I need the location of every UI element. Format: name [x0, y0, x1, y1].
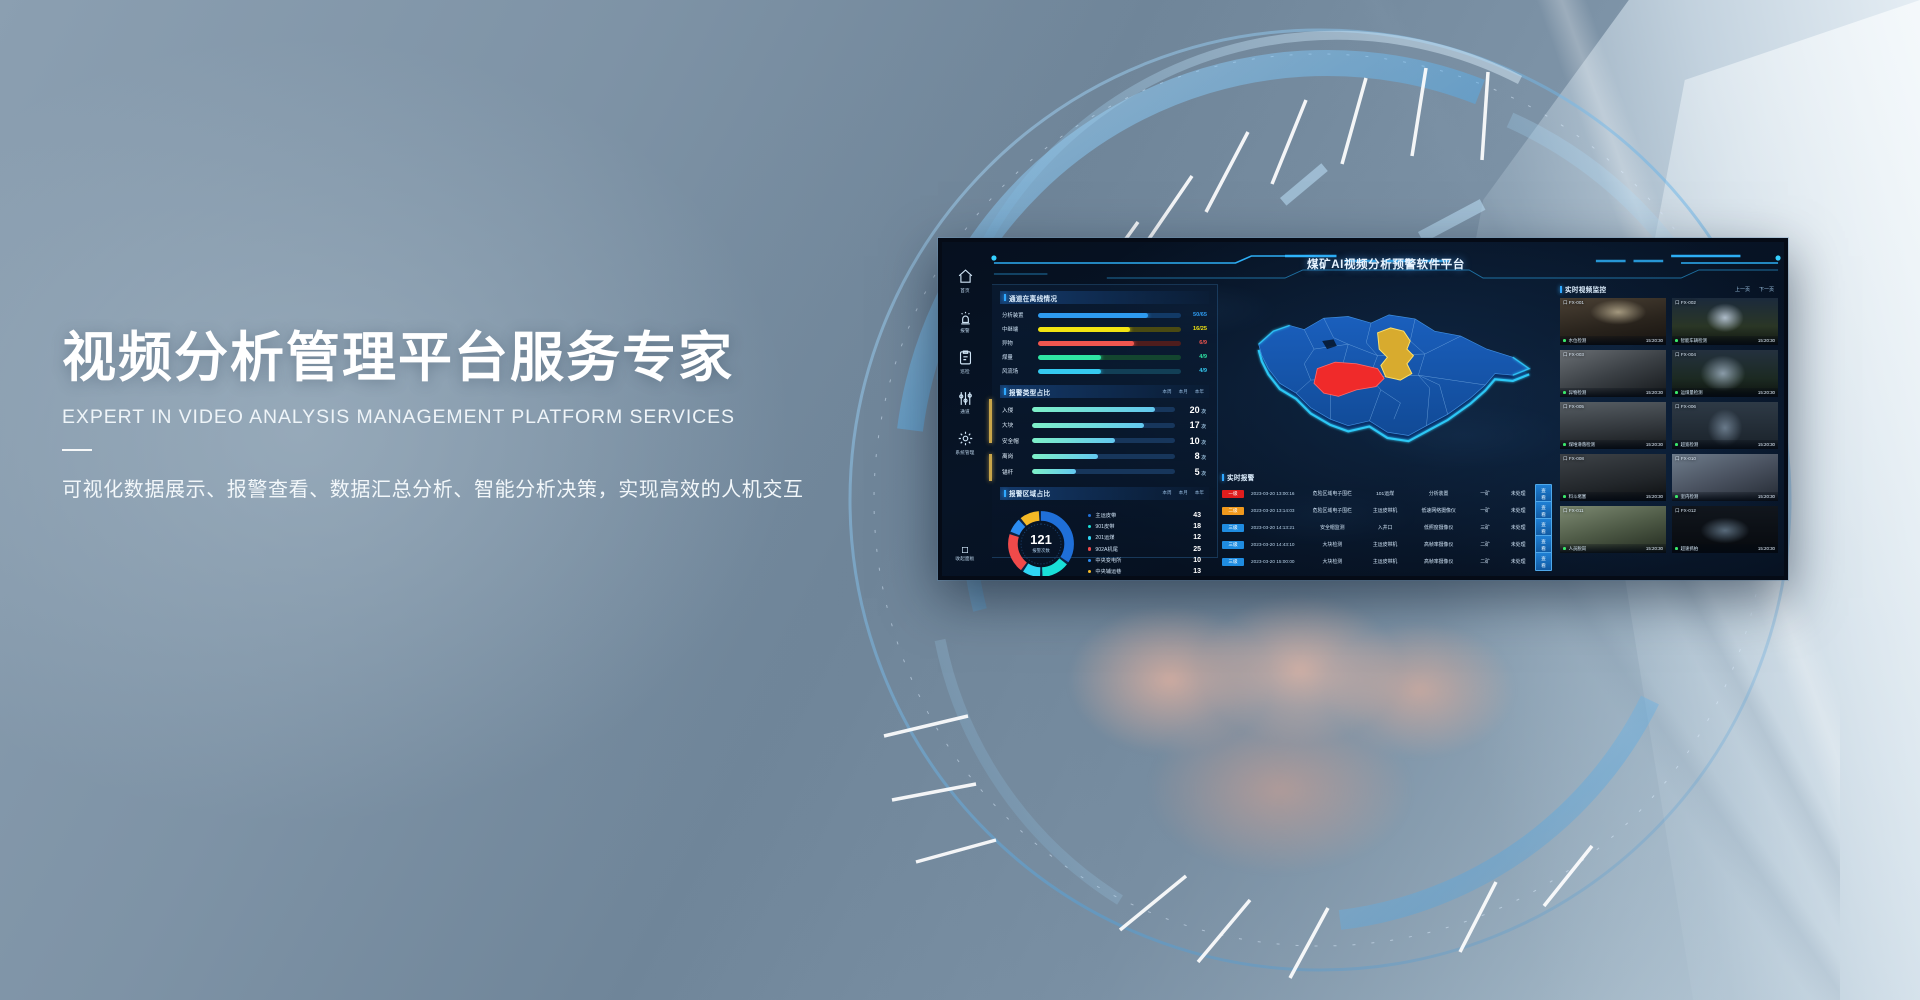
- hero-subtitle: EXPERT IN VIDEO ANALYSIS MANAGEMENT PLAT…: [62, 406, 822, 429]
- alarm-type-row: 大块 17次: [1000, 418, 1209, 434]
- video-footer: 煤堆滑落检测 15:20:30: [1560, 440, 1666, 449]
- camera-label: 智能车辆检测: [1678, 338, 1758, 344]
- alarm-type-value: 20次: [1175, 405, 1209, 415]
- panel-accent-bar: [1004, 490, 1006, 497]
- alarm-type-panel: 报警类型占比 本周本月本年 入侵 20次 大块 17次 安全帽 10次 离岗 8: [1000, 385, 1209, 480]
- alarm-area-tab-0[interactable]: 本周: [1162, 490, 1171, 496]
- alarm-type-track: [1032, 407, 1175, 412]
- table-row: 三级 2023-03-20 14:13:21 安全帽监测 入井口 低照度摄像仪 …: [1222, 519, 1556, 536]
- camera-id: 口 FX-010: [1675, 456, 1696, 462]
- panel-header: 实时报警: [1222, 472, 1556, 482]
- video-footer: 超宽检测 15:20:30: [1672, 440, 1778, 449]
- legend-item: 中央变电所 10: [1088, 555, 1209, 566]
- video-tile[interactable]: 口 FX-011 人员脱岗 15:20:30: [1560, 506, 1666, 553]
- donut-total-value: 121: [1030, 533, 1052, 546]
- camera-timestamp: 15:20:30: [1758, 338, 1775, 343]
- camera-id: 口 FX-012: [1675, 508, 1696, 514]
- video-footer: 水位检测 15:20:30: [1560, 336, 1666, 345]
- alarm-type: 危险区域电子围栏: [1303, 507, 1362, 514]
- table-row: 三级 2023-03-20 15:00:00 大块检测 主运皮带机 高帧率摄像仪…: [1222, 553, 1556, 570]
- alarm-time: 2023-03-20 13:14:03: [1251, 508, 1303, 513]
- camera-timestamp: 15:20:30: [1758, 442, 1775, 447]
- alarm-light-icon: [957, 309, 974, 326]
- alarm-area-tab-1[interactable]: 本月: [1179, 490, 1188, 496]
- alarm-type-row: 入侵 20次: [1000, 402, 1209, 418]
- camera-id: 口 FX-011: [1563, 508, 1584, 514]
- alarm-area-chart: 121 报警次数 主运皮带 43 901皮带 18 201运煤 12 902A机…: [1000, 504, 1209, 577]
- video-grid: 口 FX-001 水位检测 15:20:30 口 FX-002 智能车辆检测 1…: [1560, 298, 1778, 553]
- channel-label: 分析装置: [1002, 311, 1038, 319]
- legend-item: 901皮带 18: [1088, 521, 1209, 532]
- alarm-type-fill: [1032, 454, 1098, 459]
- realtime-alarm-panel: 实时报警 一级 2023-03-20 13:00:16 危险区域电子围栏 101…: [1222, 472, 1556, 560]
- alarm-type: 安全帽监测: [1303, 524, 1362, 531]
- alarm-mine: 二矿: [1469, 558, 1501, 565]
- hero-copy: 视频分析管理平台服务专家 EXPERT IN VIDEO ANALYSIS MA…: [62, 328, 822, 502]
- alarm-type-track: [1032, 454, 1175, 459]
- donut-legend: 主运皮带 43 901皮带 18 201运煤 12 902A机尾 25 中央变电…: [1078, 510, 1209, 576]
- alarm-location: 主运皮带机: [1362, 558, 1408, 565]
- table-row: 一级 2023-03-20 13:00:16 危险区域电子围栏 101运煤 分析…: [1222, 485, 1556, 502]
- panel-header: 实时视频监控 上一页 下一页: [1560, 284, 1778, 294]
- video-footer: 室内检测 15:20:30: [1672, 492, 1778, 501]
- alarm-type-track: [1032, 438, 1175, 443]
- camera-timestamp: 15:20:30: [1646, 338, 1663, 343]
- camera-id: 口 FX-004: [1675, 352, 1696, 358]
- alarm-type-track: [1032, 469, 1175, 474]
- alarm-type-label: 安全帽: [1002, 437, 1032, 445]
- legend-item: 中央辅运巷 13: [1088, 566, 1209, 576]
- alarm-mine: 二矿: [1469, 541, 1501, 548]
- channel-progress-track: [1038, 341, 1181, 346]
- video-footer: 超速抓拍 15:20:30: [1672, 544, 1778, 553]
- alarm-type-label: 锚杆: [1002, 468, 1032, 476]
- panel-header: 报警类型占比 本周本月本年: [1000, 385, 1209, 398]
- alarm-type-label: 离岗: [1002, 452, 1032, 460]
- alarm-type: 大块检测: [1303, 558, 1362, 565]
- alarm-type-row: 锚杆 5次: [1000, 464, 1209, 480]
- video-panel-title: 实时视频监控: [1565, 284, 1606, 294]
- camera-timestamp: 15:20:30: [1646, 442, 1663, 447]
- alarm-status: 未处理: [1501, 541, 1535, 548]
- camera-label: 料斗堵塞: [1566, 494, 1646, 500]
- video-footer: 运煤量检测 15:20:30: [1672, 388, 1778, 397]
- legend-name: 902A机尾: [1091, 546, 1193, 553]
- channel-value: 6/9: [1181, 340, 1209, 346]
- dashboard-title: 煤矿AI视频分析预警软件平台: [1307, 256, 1465, 272]
- channel-progress-fill: [1038, 369, 1101, 374]
- alarm-type-fill: [1032, 438, 1115, 443]
- sidebar-item-channel[interactable]: 通道: [942, 390, 988, 416]
- legend-value: 10: [1193, 557, 1209, 564]
- video-footer: 智能车辆检测 15:20:30: [1672, 336, 1778, 345]
- channel-progress-track: [1038, 369, 1181, 374]
- legend-value: 13: [1193, 568, 1209, 575]
- channel-progress-fill: [1038, 313, 1148, 318]
- video-footer: 异物检测 15:20:30: [1560, 388, 1666, 397]
- video-tile[interactable]: 口 FX-001 水位检测 15:20:30: [1560, 298, 1666, 345]
- channel-progress-fill: [1038, 327, 1130, 332]
- alarm-device: 分析装置: [1408, 490, 1469, 497]
- legend-item: 902A机尾 25: [1088, 544, 1209, 555]
- channel-value: 4/9: [1181, 368, 1209, 374]
- legend-name: 主运皮带: [1091, 512, 1193, 519]
- camera-timestamp: 15:20:30: [1758, 390, 1775, 395]
- camera-label: 人员脱岗: [1566, 546, 1646, 552]
- video-footer: 料斗堵塞 15:20:30: [1560, 492, 1666, 501]
- legend-value: 18: [1193, 523, 1209, 530]
- channel-rows: 分析装置 50/65 中继端 16/25 异物 6/9 煤量 4/9 风流场 4…: [1000, 308, 1209, 378]
- realtime-alarm-title: 实时报警: [1227, 472, 1255, 482]
- video-tile[interactable]: 口 FX-004 运煤量检测 15:20:30: [1672, 350, 1778, 397]
- camera-label: 超宽检测: [1678, 442, 1758, 448]
- channel-value: 4/9: [1181, 354, 1209, 360]
- channel-label: 中继端: [1002, 325, 1038, 333]
- collapse-panel-button[interactable]: 收起面板: [942, 546, 988, 563]
- next-page-button[interactable]: 下一页: [1759, 286, 1774, 293]
- prev-page-button[interactable]: 上一页: [1735, 286, 1750, 293]
- legend-value: 43: [1193, 512, 1209, 519]
- alarm-type-fill: [1032, 407, 1155, 412]
- video-footer: 人员脱岗 15:20:30: [1560, 544, 1666, 553]
- alarm-device: 低照度摄像仪: [1408, 524, 1469, 531]
- alarm-location: 101运煤: [1362, 490, 1408, 497]
- camera-timestamp: 15:20:30: [1646, 390, 1663, 395]
- alarm-type-tab-0[interactable]: 本周: [1162, 389, 1171, 395]
- camera-id: 口 FX-006: [1675, 404, 1696, 410]
- video-surveillance-panel: 实时视频监控 上一页 下一页 口 FX-001 水位检测 15:20:30 口 …: [1560, 284, 1778, 560]
- alarm-time: 2023-03-20 15:00:00: [1251, 559, 1303, 564]
- panel-accent-bar: [1222, 474, 1224, 481]
- camera-id: 口 FX-001: [1563, 300, 1584, 306]
- video-tile[interactable]: 口 FX-006 超宽检测 15:20:30: [1672, 402, 1778, 449]
- alarm-type-row: 离岗 8次: [1000, 449, 1209, 465]
- legend-value: 12: [1193, 534, 1209, 541]
- collapse-icon: [961, 546, 969, 554]
- channel-row: 分析装置 50/65: [1000, 308, 1209, 322]
- alarm-time: 2023-03-20 13:00:16: [1251, 491, 1303, 496]
- panel-accent-bar: [1004, 294, 1006, 301]
- legend-name: 901皮带: [1091, 523, 1193, 530]
- legend-name: 201运煤: [1091, 534, 1193, 541]
- channel-row: 异物 6/9: [1000, 336, 1209, 350]
- alarm-location: 入井口: [1362, 524, 1408, 531]
- clipboard-edit-icon: [957, 349, 974, 366]
- video-tile[interactable]: 口 FX-012 超速抓拍 15:20:30: [1672, 506, 1778, 553]
- channel-row: 中继端 16/25: [1000, 322, 1209, 336]
- channel-status-panel: 通道在离线情况 分析装置 50/65 中继端 16/25 异物 6/9 煤量 4…: [1000, 291, 1209, 378]
- channel-row: 风流场 4/9: [1000, 364, 1209, 378]
- alarm-type-label: 入侵: [1002, 406, 1032, 414]
- sidebar-label-system: 系统管理: [955, 450, 974, 456]
- panel-header: 报警区域占比 本周本月本年: [1000, 487, 1209, 500]
- status-badge: 三级: [1222, 558, 1244, 566]
- alarm-time: 2023-03-20 14:43:10: [1251, 542, 1303, 547]
- alarm-area-panel-title: 报警区域占比: [1009, 488, 1050, 498]
- alarm-device: 低速网络摄像仪: [1408, 507, 1469, 514]
- left-panel-column: 通道在离线情况 分析装置 50/65 中继端 16/25 异物 6/9 煤量 4…: [992, 284, 1218, 558]
- sidebar-label-alarm: 报警: [960, 328, 970, 334]
- alarm-device: 高帧率摄像仪: [1408, 541, 1469, 548]
- camera-timestamp: 15:20:30: [1758, 546, 1775, 551]
- alarm-status: 未处理: [1501, 507, 1535, 514]
- alarm-time: 2023-03-20 14:13:21: [1251, 525, 1303, 530]
- sidebar-label-inspection: 巡检: [960, 369, 970, 375]
- sidebar-item-alarm[interactable]: 报警: [942, 309, 988, 335]
- alarm-type-rows: 入侵 20次 大块 17次 安全帽 10次 离岗 8次 锚杆 5次: [1000, 402, 1209, 480]
- alarm-status: 未处理: [1501, 490, 1535, 497]
- channel-label: 风流场: [1002, 367, 1038, 375]
- alarm-type-period-tabs: 本周本月本年: [1162, 389, 1209, 395]
- channel-value: 50/65: [1181, 312, 1209, 318]
- collapse-label: 收起面板: [955, 556, 974, 562]
- alarm-area-tab-2[interactable]: 本年: [1195, 490, 1204, 496]
- camera-id: 口 FX-005: [1563, 404, 1584, 410]
- panel-accent-bar: [1560, 286, 1562, 293]
- alarm-area-period-tabs: 本周本月本年: [1162, 490, 1209, 496]
- alarm-device: 高帧率摄像仪: [1408, 558, 1469, 565]
- monitor-device: 首页 报警 巡检 通道 系统管理: [938, 238, 1788, 580]
- alarm-mine: 三矿: [1469, 524, 1501, 531]
- alarm-location: 主运皮带机: [1362, 541, 1408, 548]
- alarm-type-fill: [1032, 423, 1144, 428]
- dashboard-content: 通道在离线情况 分析装置 50/65 中继端 16/25 异物 6/9 煤量 4…: [990, 282, 1780, 572]
- view-button[interactable]: 查看: [1535, 552, 1552, 571]
- alarm-type-tab-1[interactable]: 本月: [1179, 389, 1188, 395]
- table-row: 三级 2023-03-20 14:43:10 大块检测 主运皮带机 高帧率摄像仪…: [1222, 536, 1556, 553]
- sidebar: 首页 报警 巡检 通道 系统管理: [942, 242, 988, 576]
- legend-name: 中央辅运巷: [1091, 568, 1193, 575]
- legend-name: 中央变电所: [1091, 557, 1193, 564]
- divider-rule: [62, 449, 92, 451]
- legend-item: 主运皮带 43: [1088, 510, 1209, 521]
- camera-label: 室内检测: [1678, 494, 1758, 500]
- channel-progress-track: [1038, 327, 1181, 332]
- alarm-type: 大块检测: [1303, 541, 1362, 548]
- alarm-status: 未处理: [1501, 524, 1535, 531]
- sidebar-item-inspection[interactable]: 巡检: [942, 349, 988, 375]
- alarm-type-track: [1032, 423, 1175, 428]
- camera-id: 口 FX-002: [1675, 300, 1696, 306]
- camera-label: 水位检测: [1566, 338, 1646, 344]
- alarm-type-value: 5次: [1175, 467, 1209, 477]
- legend-value: 25: [1193, 546, 1209, 553]
- channel-label: 异物: [1002, 339, 1038, 347]
- gear-icon: [957, 430, 974, 447]
- channel-progress-fill: [1038, 355, 1101, 360]
- status-badge: 二级: [1222, 507, 1244, 515]
- camera-label: 运煤量检测: [1678, 390, 1758, 396]
- donut-total-label: 报警次数: [1032, 548, 1050, 554]
- sidebar-item-home[interactable]: 首页: [942, 268, 988, 294]
- sidebar-item-system[interactable]: 系统管理: [942, 430, 988, 456]
- panel-header: 通道在离线情况: [1000, 291, 1209, 304]
- camera-label: 煤堆滑落检测: [1566, 442, 1646, 448]
- donut-center: 121 报警次数: [1004, 507, 1078, 577]
- video-tile[interactable]: 口 FX-002 智能车辆检测 15:20:30: [1672, 298, 1778, 345]
- alarm-location: 主运皮带机: [1362, 507, 1408, 514]
- channel-row: 煤量 4/9: [1000, 350, 1209, 364]
- channel-panel-title: 通道在离线情况: [1009, 293, 1057, 303]
- alarm-type-label: 大块: [1002, 421, 1032, 429]
- alarm-type: 危险区域电子围栏: [1303, 490, 1362, 497]
- legend-item: 201运煤 12: [1088, 532, 1209, 543]
- sidebar-label-channel: 通道: [960, 409, 970, 415]
- camera-timestamp: 15:20:30: [1646, 546, 1663, 551]
- video-tile[interactable]: 口 FX-008 料斗堵塞 15:20:30: [1560, 454, 1666, 501]
- hand-silhouette: [1030, 560, 1590, 900]
- channel-value: 16/25: [1181, 326, 1209, 332]
- table-row: 二级 2023-03-20 13:14:03 危险区域电子围栏 主运皮带机 低速…: [1222, 502, 1556, 519]
- sidebar-label-home: 首页: [960, 288, 970, 294]
- dashboard-header: 煤矿AI视频分析预警软件平台: [988, 254, 1784, 280]
- camera-id: 口 FX-003: [1563, 352, 1584, 358]
- province-map[interactable]: [1226, 284, 1552, 468]
- channel-progress-fill: [1038, 341, 1134, 346]
- status-badge: 一级: [1222, 490, 1244, 498]
- video-tile[interactable]: 口 FX-003 异物检测 15:20:30: [1560, 350, 1666, 397]
- alarm-type-panel-title: 报警类型占比: [1009, 387, 1050, 397]
- dashboard-screen: 首页 报警 巡检 通道 系统管理: [942, 242, 1784, 576]
- status-badge: 三级: [1222, 524, 1244, 532]
- channel-progress-track: [1038, 313, 1181, 318]
- alarm-area-panel: 报警区域占比 本周本月本年 121 报警次数 主运皮带 43: [1000, 487, 1209, 577]
- camera-id: 口 FX-008: [1563, 456, 1584, 462]
- alarm-status: 未处理: [1501, 558, 1535, 565]
- camera-timestamp: 15:20:30: [1646, 494, 1663, 499]
- sliders-icon: [957, 390, 974, 407]
- video-tile[interactable]: 口 FX-005 煤堆滑落检测 15:20:30: [1560, 402, 1666, 449]
- alarm-type-value: 8次: [1175, 451, 1209, 461]
- alarm-type-fill: [1032, 469, 1076, 474]
- alarm-type-value: 17次: [1175, 420, 1209, 430]
- alarm-mine: 一矿: [1469, 490, 1501, 497]
- home-icon: [957, 268, 974, 285]
- alarm-type-value: 10次: [1175, 436, 1209, 446]
- camera-label: 异物检测: [1566, 390, 1646, 396]
- channel-label: 煤量: [1002, 353, 1038, 361]
- panel-accent-bar: [1004, 388, 1006, 395]
- alarm-type-tab-2[interactable]: 本年: [1195, 389, 1204, 395]
- alarm-rows: 一级 2023-03-20 13:00:16 危险区域电子围栏 101运煤 分析…: [1222, 485, 1556, 570]
- camera-timestamp: 15:20:30: [1758, 494, 1775, 499]
- hero-description: 可视化数据展示、报警查看、数据汇总分析、智能分析决策，实现高效的人机交互: [62, 473, 822, 502]
- camera-label: 超速抓拍: [1678, 546, 1758, 552]
- page-title: 视频分析管理平台服务专家: [62, 328, 822, 388]
- channel-progress-track: [1038, 355, 1181, 360]
- video-tile[interactable]: 口 FX-010 室内检测 15:20:30: [1672, 454, 1778, 501]
- donut-chart: 121 报警次数: [1004, 507, 1078, 577]
- alarm-mine: 一矿: [1469, 507, 1501, 514]
- alarm-type-row: 安全帽 10次: [1000, 433, 1209, 449]
- status-badge: 三级: [1222, 541, 1244, 549]
